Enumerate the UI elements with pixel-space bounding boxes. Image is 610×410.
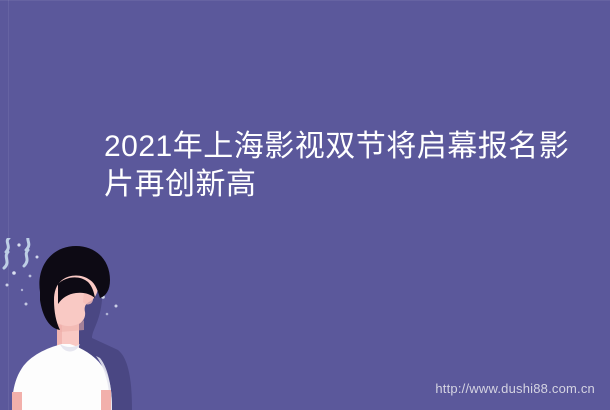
squiggle-right-icon xyxy=(24,238,30,266)
left-arm xyxy=(12,392,22,410)
watermark-url: http://www.dushi88.com.cn xyxy=(435,381,595,396)
squiggle-left-icon xyxy=(4,238,9,268)
person-looking-up-illustration xyxy=(0,238,150,410)
page-title: 2021年上海影视双节将启幕报名影片再创新高 xyxy=(104,128,574,204)
top-divider xyxy=(0,0,610,1)
right-arm xyxy=(101,390,111,410)
article-banner-image: 2021年上海影视双节将启幕报名影片再创新高 http://www.dushi8… xyxy=(0,0,610,410)
